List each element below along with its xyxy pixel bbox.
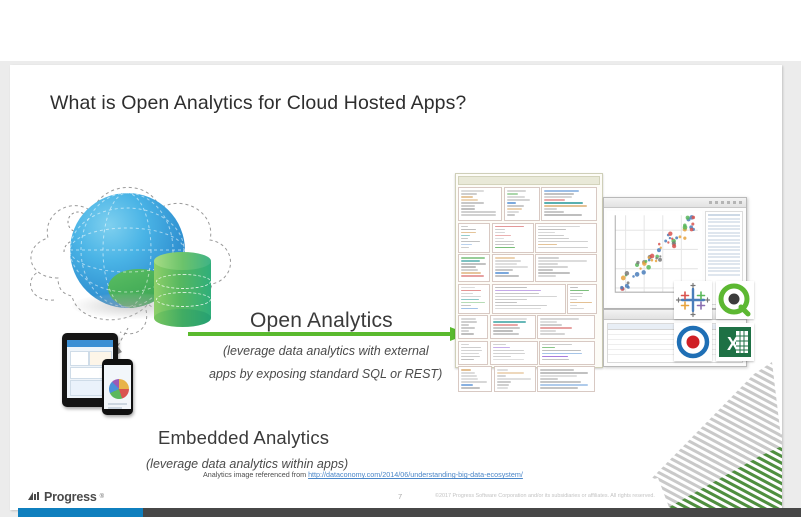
registered-mark: ®	[100, 494, 104, 500]
poster-cell	[539, 341, 595, 365]
footnote-prefix: Analytics image referenced from	[203, 470, 308, 479]
mobile-devices-graphic	[58, 333, 156, 415]
source-footnote: Analytics image referenced from http://d…	[203, 470, 523, 479]
copyright-notice: ©2017 Progress Software Corporation and/…	[435, 493, 655, 499]
slide-viewer: What is Open Analytics for Cloud Hosted …	[0, 0, 801, 517]
poster-cell	[537, 315, 595, 339]
poster-cell	[458, 187, 502, 221]
embedded-analytics-sub: (leverage data analytics within apps)	[146, 457, 348, 471]
poster-cell	[490, 315, 536, 339]
poster-cell	[492, 284, 566, 314]
playback-progress-fill	[18, 508, 143, 517]
poster-cell	[458, 315, 488, 339]
tableau-logo-icon	[674, 281, 712, 319]
poster-cell	[567, 284, 597, 314]
database-cylinder-icon	[154, 252, 211, 326]
poster-cell	[458, 341, 488, 365]
presentation-slide: What is Open Analytics for Cloud Hosted …	[10, 65, 782, 510]
page-number: 7	[398, 492, 402, 501]
excel-logo-icon: X	[716, 323, 754, 361]
source-link[interactable]: http://dataconomy.com/2014/06/understand…	[308, 470, 523, 479]
page-title: What is Open Analytics for Cloud Hosted …	[50, 92, 466, 115]
open-analytics-sub-1: (leverage data analytics with external	[223, 344, 429, 358]
poster-cell	[492, 254, 534, 282]
slide-stage: What is Open Analytics for Cloud Hosted …	[0, 61, 801, 517]
progress-mark-icon	[27, 491, 41, 504]
poster-cell	[458, 284, 490, 314]
playback-progress-track[interactable]	[18, 508, 801, 517]
poster-cell	[458, 254, 490, 282]
poster-cell	[492, 223, 534, 253]
poster-header-band	[458, 176, 600, 185]
analytics-vendor-logos: X	[674, 281, 756, 361]
poster-cell	[494, 366, 536, 392]
open-analytics-heading: Open Analytics	[250, 309, 393, 333]
decorative-stripes	[642, 360, 782, 510]
open-analytics-sub-2: apps by exposing standard SQL or REST)	[209, 367, 442, 381]
progress-wordmark: Progress	[44, 490, 97, 504]
poster-box-grid	[458, 187, 600, 392]
spotfire-logo-icon	[674, 323, 712, 361]
poster-cell	[458, 223, 490, 253]
poster-cell	[541, 187, 597, 221]
qlik-logo-icon	[716, 281, 754, 319]
poster-cell	[535, 254, 597, 282]
phone-icon	[102, 359, 133, 415]
poster-cell	[535, 223, 597, 253]
big-data-ecosystem-poster-image	[455, 173, 603, 368]
poster-cell	[537, 366, 595, 392]
poster-cell	[458, 366, 492, 392]
progress-logo: Progress ®	[27, 490, 104, 504]
poster-cell	[504, 187, 540, 221]
poster-cell	[490, 341, 538, 365]
bi-titlebar	[604, 198, 746, 208]
embedded-analytics-heading: Embedded Analytics	[158, 427, 329, 449]
